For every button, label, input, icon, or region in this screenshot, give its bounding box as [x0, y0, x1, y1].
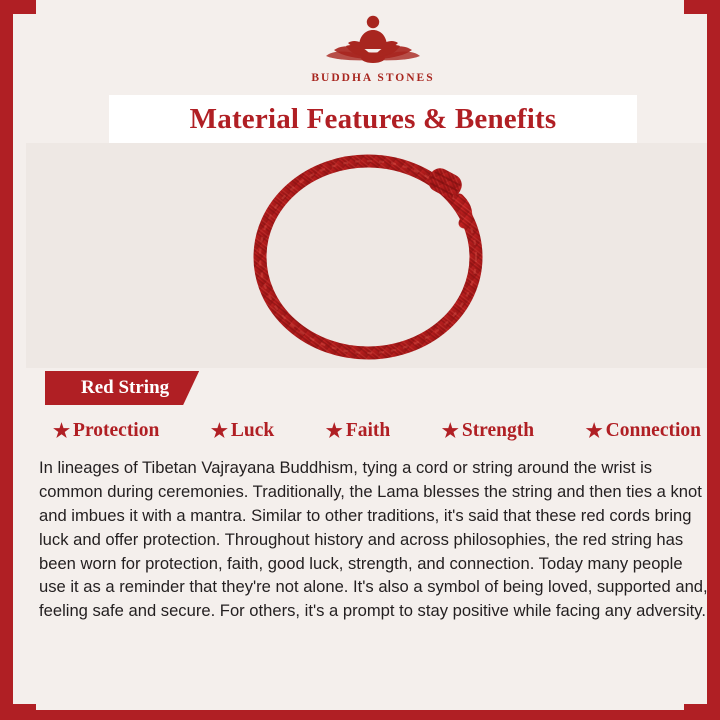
content-panel: BUDDHA STONES Material Features & Benefi…	[13, 0, 707, 710]
ribbon-text: Red String	[81, 377, 169, 399]
corner-notch-bottom-left	[0, 704, 36, 720]
benefits-list: ★ Protection ★ Luck ★ Faith ★ Strength ★…	[53, 420, 701, 442]
ribbon-label: Red String	[45, 371, 199, 405]
star-icon: ★	[53, 422, 70, 441]
brand-logo: BUDDHA STONES	[13, 12, 707, 84]
description-text: In lineages of Tibetan Vajrayana Buddhis…	[39, 456, 707, 623]
page-title: Material Features & Benefits	[190, 103, 557, 136]
benefit-label: Protection	[73, 420, 159, 442]
star-icon: ★	[442, 422, 459, 441]
benefit-label: Faith	[346, 420, 390, 442]
brand-name: BUDDHA STONES	[311, 72, 434, 84]
star-icon: ★	[211, 422, 228, 441]
product-image	[26, 143, 707, 368]
page-frame: BUDDHA STONES Material Features & Benefi…	[0, 0, 720, 720]
benefit-item-connection: ★ Connection	[586, 420, 701, 442]
benefit-label: Connection	[606, 420, 701, 442]
star-icon: ★	[326, 422, 343, 441]
corner-notch-top-right	[684, 0, 720, 14]
star-icon: ★	[586, 422, 603, 441]
benefit-item-protection: ★ Protection	[53, 420, 159, 442]
lotus-meditation-icon	[308, 12, 438, 70]
benefit-item-strength: ★ Strength	[442, 420, 534, 442]
band-rule-left	[26, 95, 122, 143]
benefit-label: Luck	[231, 420, 274, 442]
benefit-label: Strength	[462, 420, 534, 442]
benefit-item-luck: ★ Luck	[211, 420, 274, 442]
corner-notch-top-left	[0, 0, 36, 14]
title-band: Material Features & Benefits	[109, 95, 637, 143]
benefit-item-faith: ★ Faith	[326, 420, 390, 442]
corner-notch-bottom-right	[684, 704, 720, 720]
red-braided-string-bracelet-icon	[223, 147, 523, 367]
